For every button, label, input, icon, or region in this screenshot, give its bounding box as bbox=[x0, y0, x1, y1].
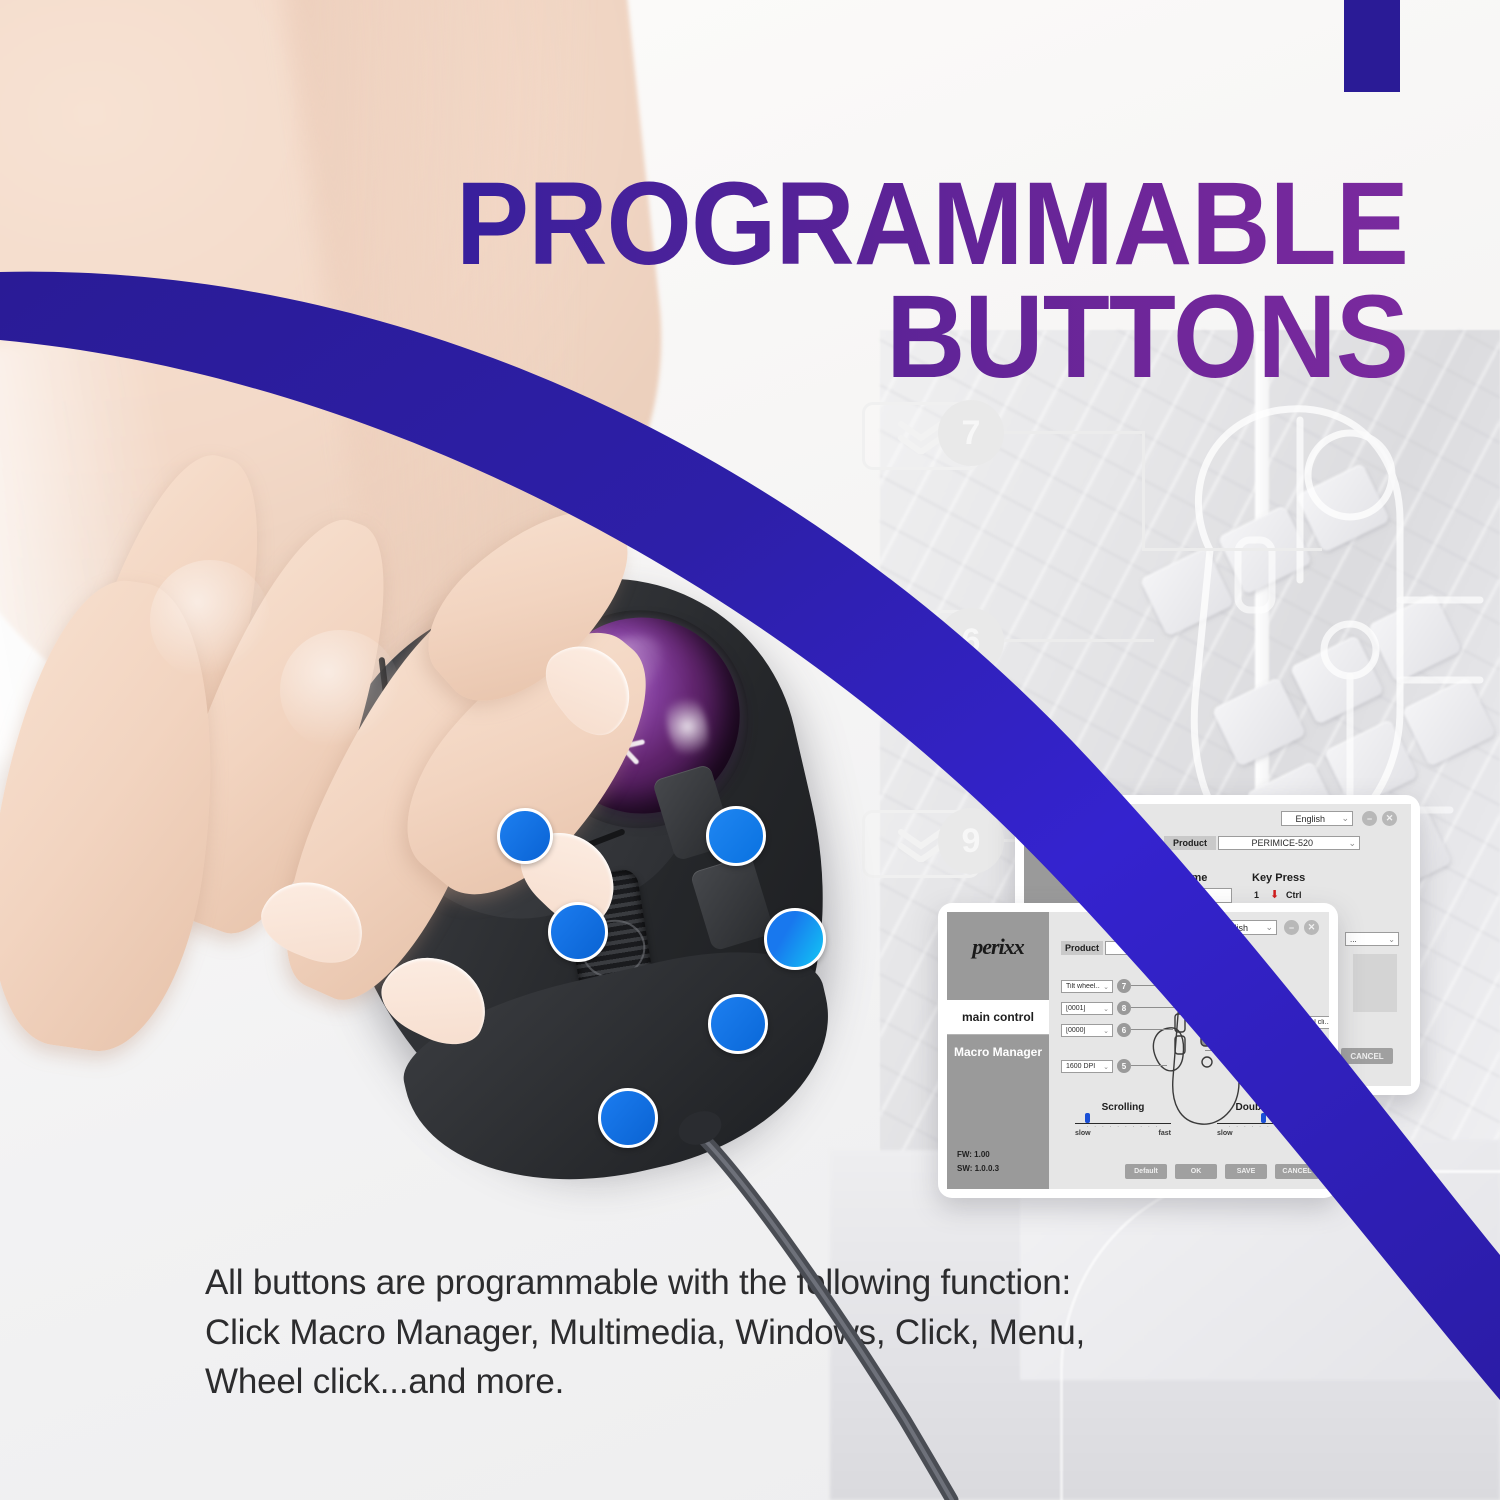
tab-macro-manager[interactable]: Macro Manager bbox=[947, 1034, 1049, 1069]
ghost-callout-number: 6 bbox=[938, 608, 1004, 674]
programmable-button-dot-1 bbox=[497, 808, 553, 864]
chevron-down-icon: ⌄ bbox=[1258, 991, 1270, 999]
assignment-dropdown-6[interactable]: [0000] ⌄ bbox=[1061, 1024, 1113, 1037]
programmable-button-dot-2 bbox=[706, 806, 766, 866]
title-line-1: PROGRAMMABLE bbox=[456, 158, 1408, 290]
callout-7: 7 bbox=[1117, 979, 1131, 993]
callout-1: 1 bbox=[1177, 964, 1191, 978]
double-click-slider-max: fast bbox=[1301, 1130, 1313, 1137]
close-icon[interactable]: ✕ bbox=[1304, 920, 1319, 935]
assignment-dropdown-3[interactable]: Wheel cli... ⌄ bbox=[1291, 1016, 1329, 1029]
ghost-callout-number: 9 bbox=[938, 808, 1004, 874]
scrolling-slider-max: fast bbox=[1159, 1130, 1171, 1137]
chevron-down-icon: ⌄ bbox=[1338, 813, 1352, 824]
key-press-label: Key Press bbox=[1252, 872, 1305, 884]
minimize-icon[interactable]: − bbox=[1284, 920, 1299, 935]
key-press-index: 1 bbox=[1254, 890, 1259, 900]
macro-name-input[interactable]: [0000] bbox=[1142, 888, 1232, 903]
chevron-down-icon: ⌄ bbox=[1100, 983, 1112, 991]
callout-2: 2 bbox=[1207, 988, 1221, 1002]
dpi-dropdown[interactable]: 1600 DPI ⌄ bbox=[1061, 1060, 1113, 1073]
close-icon[interactable]: ✕ bbox=[1382, 811, 1397, 826]
chevron-down-icon: ⌄ bbox=[1262, 922, 1276, 933]
perixx-logo: perixx bbox=[947, 934, 1049, 960]
page-title: PROGRAMMABLE BUTTONS bbox=[311, 168, 1408, 395]
language-select[interactable]: English ⌄ bbox=[1203, 920, 1277, 935]
product-label: Product bbox=[1164, 836, 1216, 850]
description-line-3: Wheel click...and more. bbox=[205, 1357, 1325, 1407]
scrolling-slider-min: slow bbox=[1075, 1130, 1091, 1137]
chevron-down-icon: ⌄ bbox=[1100, 1005, 1112, 1013]
cancel-button[interactable]: CANCEL bbox=[1275, 1164, 1319, 1179]
double-click-slider-min: slow bbox=[1217, 1130, 1233, 1137]
chevron-down-icon: ⌄ bbox=[1385, 935, 1398, 944]
assignment-dropdown-6b[interactable]: Tilt wheel... ⌄ bbox=[1291, 1066, 1329, 1079]
programmable-button-dot-6 bbox=[598, 1088, 658, 1148]
assignment-dropdown-4[interactable]: Switch wi... ⌄ bbox=[1291, 1044, 1329, 1057]
assignment-dropdown-2[interactable]: Menu ⌄ bbox=[1225, 988, 1271, 1001]
macro-list-panel bbox=[1353, 954, 1397, 1012]
title-line-2: BUTTONS bbox=[311, 281, 1408, 394]
product-label: Product bbox=[1061, 941, 1103, 955]
chevron-down-icon: ⌄ bbox=[1218, 943, 1232, 954]
macro-name-label: Macro Name bbox=[1142, 872, 1207, 884]
product-select[interactable]: PERIMICE-520 ⌄ bbox=[1218, 836, 1360, 850]
double-click-slider-knob[interactable] bbox=[1261, 1113, 1266, 1123]
firmware-version: FW: 1.00 bbox=[957, 1150, 990, 1159]
product-select[interactable]: PERIMICE-520 ⌄ bbox=[1105, 941, 1233, 955]
callout-6b: 6 bbox=[1273, 1066, 1287, 1080]
callout-6: 6 bbox=[1117, 1023, 1131, 1037]
ghost-callout-number: 7 bbox=[938, 400, 1004, 466]
default-button[interactable]: Default bbox=[1125, 1164, 1167, 1179]
ok-button[interactable]: OK bbox=[1175, 1164, 1217, 1179]
description-line-1: All buttons are programmable with the fo… bbox=[205, 1258, 1325, 1308]
description-line-2: Click Macro Manager, Multimedia, Windows… bbox=[205, 1308, 1325, 1358]
callout-5: 5 bbox=[1117, 1059, 1131, 1073]
tab-main-control[interactable]: main control bbox=[947, 1000, 1049, 1034]
callout-4: 4 bbox=[1273, 1044, 1287, 1058]
callout-8: 8 bbox=[1117, 1001, 1131, 1015]
chevron-down-icon: ⌄ bbox=[1100, 1063, 1112, 1071]
assignment-dropdown-8[interactable]: [0001] ⌄ bbox=[1061, 1002, 1113, 1015]
assignment-dropdown[interactable]: ...⌄ bbox=[1345, 932, 1399, 946]
double-click-slider-label: Double click bbox=[1217, 1102, 1313, 1113]
perixx-logo: perixx bbox=[1024, 830, 1112, 855]
chevron-down-icon: ⌄ bbox=[1345, 838, 1359, 849]
scrolling-slider-knob[interactable] bbox=[1085, 1113, 1090, 1123]
perixx-main-control-window[interactable]: perixx main control Macro Manager FW: 1.… bbox=[938, 903, 1338, 1198]
assignment-dropdown-7[interactable]: Tilt wheel... ⌄ bbox=[1061, 980, 1113, 993]
cancel-button[interactable]: CANCEL bbox=[1341, 1048, 1393, 1064]
chevron-down-icon: ⌄ bbox=[1100, 1027, 1112, 1035]
chevron-down-icon: ⌄ bbox=[1230, 967, 1242, 975]
feature-description: All buttons are programmable with the fo… bbox=[205, 1258, 1325, 1407]
programmable-button-dot-5 bbox=[708, 994, 768, 1054]
save-button[interactable]: SAVE bbox=[1225, 1164, 1267, 1179]
callout-3: 3 bbox=[1273, 1016, 1287, 1030]
language-select[interactable]: English ⌄ bbox=[1281, 811, 1353, 826]
assignment-dropdown-1[interactable]: Click ⌄ bbox=[1195, 964, 1243, 977]
scrolling-slider-label: Scrolling bbox=[1075, 1102, 1171, 1113]
key-press-value: Ctrl bbox=[1286, 890, 1302, 900]
hand bbox=[30, 440, 810, 1160]
product-banner: 7 6 9 bbox=[0, 0, 1500, 1500]
programmable-button-dot-4 bbox=[764, 908, 826, 970]
programmable-button-dot-3 bbox=[548, 902, 608, 962]
minimize-icon[interactable]: − bbox=[1362, 811, 1377, 826]
software-version: SW: 1.0.0.3 bbox=[957, 1164, 999, 1173]
key-down-arrow-icon: ⬇ bbox=[1270, 888, 1279, 901]
